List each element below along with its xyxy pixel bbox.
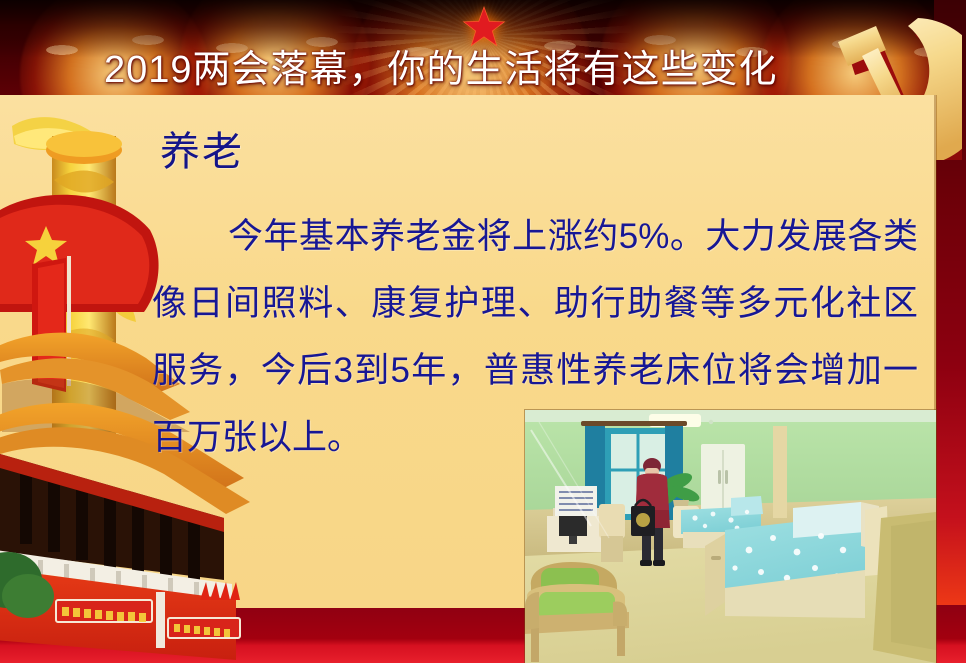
slide-title: 2019两会落幕，你的生活将有这些变化 [104,47,778,93]
presentation-slide: 2019两会落幕，你的生活将有这些变化 养老 今年基本养老金将上涨约5%。大力发… [0,0,966,663]
body-paragraph: 今年基本养老金将上涨约5%。大力发展各类像日间照料、康复护理、助行助餐等多元化社… [152,203,918,471]
red-star-icon [462,5,506,49]
section-heading: 养老 [160,128,244,176]
